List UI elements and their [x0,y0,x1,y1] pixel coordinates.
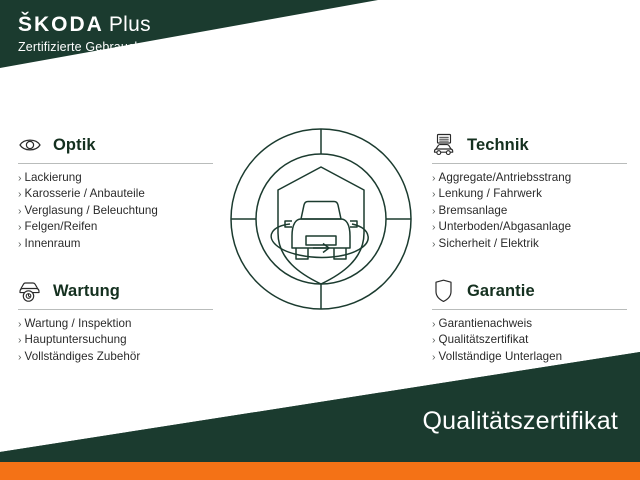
bullet-marker: › [432,221,436,233]
list-item-label: Garantienachweis [439,317,533,330]
section-wartung-list: ›Wartung / Inspektion ›Hauptuntersuchung… [18,316,213,365]
list-item-label: Verglasung / Beleuchtung [25,204,158,217]
list-item: ›Felgen/Reifen [18,219,213,235]
section-garantie-list: ›Garantienachweis ›Qualitätszertifikat ›… [432,316,627,365]
orange-stripe [0,462,640,480]
list-item: ›Bremsanlage [432,203,627,219]
list-item-label: Vollständige Unterlagen [439,350,563,363]
brand-subtitle: Zertifizierte Gebrauchtwagen [18,39,183,56]
section-optik-list: ›Lackierung ›Karosserie / Anbauteile ›Ve… [18,170,213,252]
bullet-marker: › [432,205,436,217]
bullet-marker: › [18,172,22,184]
list-item-label: Bremsanlage [439,204,508,217]
emblem-orbit [271,224,368,257]
certificate-page: ŠKODAPlus Zertifizierte Gebrauchtwagen O… [0,0,640,480]
list-item: ›Sicherheit / Elektrik [432,236,627,252]
section-technik: Technik ›Aggregate/Antriebsstrang ›Lenku… [432,130,627,252]
list-item-label: Innenraum [25,237,81,250]
list-item: ›Aggregate/Antriebsstrang [432,170,627,186]
bullet-marker: › [432,188,436,200]
section-optik-header: Optik [18,130,213,160]
emblem-shield [278,167,364,284]
section-technik-list: ›Aggregate/Antriebsstrang ›Lenkung / Fah… [432,170,627,252]
list-item: ›Qualitätszertifikat [432,332,627,348]
footer-title: Qualitätszertifikat [422,407,618,436]
bullet-marker: › [432,238,436,250]
list-item-label: Sicherheit / Elektrik [439,237,539,250]
bullet-marker: › [432,334,436,346]
section-technik-title: Technik [467,136,529,155]
list-item-label: Felgen/Reifen [25,220,98,233]
left-column: Optik ›Lackierung ›Karosserie / Anbautei… [18,130,213,365]
section-technik-header: Technik [432,130,627,160]
list-item: ›Garantienachweis [432,316,627,332]
list-item-label: Karosserie / Anbauteile [25,187,145,200]
bullet-marker: › [18,188,22,200]
emblem-car [285,202,357,260]
list-item: ›Unterboden/Abgasanlage [432,219,627,235]
list-item-label: Aggregate/Antriebsstrang [439,171,572,184]
bullet-marker: › [432,351,436,363]
list-item-label: Vollständiges Zubehör [25,350,141,363]
brand-logo: ŠKODAPlus Zertifizierte Gebrauchtwagen [18,12,183,56]
section-technik-divider [432,163,627,164]
list-item: ›Vollständiges Zubehör [18,349,213,365]
list-item: ›Wartung / Inspektion [18,316,213,332]
section-wartung-divider [18,309,213,310]
section-garantie-header: Garantie [432,276,627,306]
list-item: ›Lenkung / Fahrwerk [432,186,627,202]
list-item-label: Hauptuntersuchung [25,333,127,346]
bullet-marker: › [18,318,22,330]
list-item-label: Qualitätszertifikat [439,333,529,346]
shield-icon [432,278,462,304]
car-service-icon [18,278,48,304]
bullet-marker: › [18,238,22,250]
list-item: ›Verglasung / Beleuchtung [18,203,213,219]
bullet-marker: › [432,172,436,184]
right-column: Technik ›Aggregate/Antriebsstrang ›Lenku… [432,130,627,365]
bullet-marker: › [18,205,22,217]
bullet-marker: › [18,221,22,233]
section-wartung-header: Wartung [18,276,213,306]
list-item: ›Lackierung [18,170,213,186]
brand-suffix: Plus [109,13,151,36]
brand-name: ŠKODA [18,13,104,36]
bullet-marker: › [18,334,22,346]
section-garantie-divider [432,309,627,310]
list-item: ›Innenraum [18,236,213,252]
bullet-marker: › [18,351,22,363]
section-wartung: Wartung ›Wartung / Inspektion ›Hauptunte… [18,276,213,365]
section-optik-title: Optik [53,136,96,155]
car-lift-icon [432,132,462,158]
bullet-marker: › [432,318,436,330]
certified-vehicle-emblem [228,126,414,312]
section-garantie-title: Garantie [467,282,535,301]
section-optik-divider [18,163,213,164]
list-item-label: Wartung / Inspektion [25,317,132,330]
section-optik: Optik ›Lackierung ›Karosserie / Anbautei… [18,130,213,252]
list-item: ›Karosserie / Anbauteile [18,186,213,202]
brand-logo-line1: ŠKODAPlus [18,12,183,37]
section-wartung-title: Wartung [53,282,120,301]
list-item-label: Lackierung [25,171,82,184]
list-item: ›Vollständige Unterlagen [432,349,627,365]
list-item: ›Hauptuntersuchung [18,332,213,348]
section-garantie: Garantie ›Garantienachweis ›Qualitätszer… [432,276,627,365]
list-item-label: Unterboden/Abgasanlage [439,220,572,233]
eye-icon [18,132,48,158]
list-item-label: Lenkung / Fahrwerk [439,187,542,200]
